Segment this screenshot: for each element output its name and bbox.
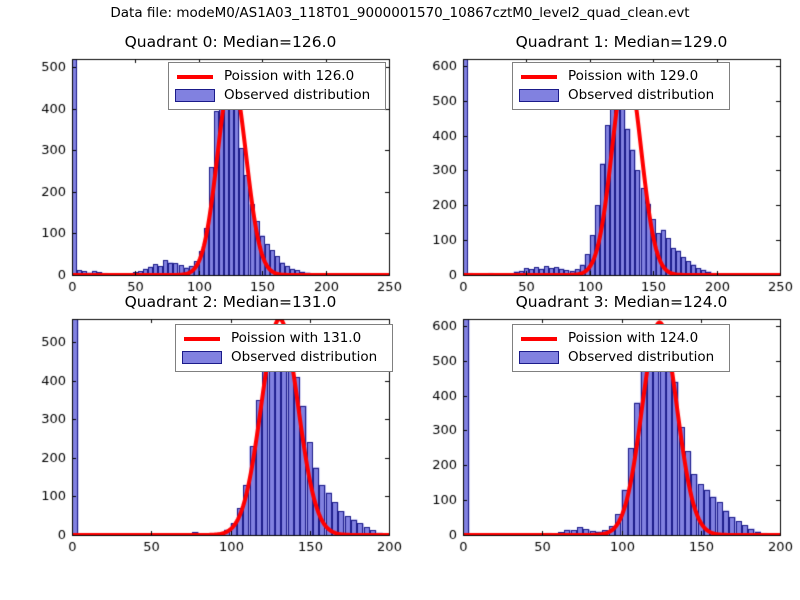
legend-label-poisson: Poission with 129.0 bbox=[568, 69, 698, 84]
legend-label-poisson: Poission with 131.0 bbox=[231, 331, 361, 346]
legend-quadrant-1: Poission with 129.0 Observed distributio… bbox=[512, 62, 730, 110]
figure-suptitle: Data file: modeM0/AS1A03_118T01_90000015… bbox=[0, 5, 800, 21]
legend-line-swatch-icon bbox=[175, 70, 215, 84]
legend-label-observed: Observed distribution bbox=[231, 350, 377, 365]
legend-patch-swatch-icon bbox=[519, 351, 559, 364]
legend-quadrant-3: Poission with 124.0 Observed distributio… bbox=[512, 324, 730, 372]
legend-line-swatch-icon bbox=[519, 332, 559, 346]
legend-row-poisson: Poission with 124.0 bbox=[519, 329, 723, 348]
legend-row-poisson: Poission with 129.0 bbox=[519, 67, 723, 86]
legend-label-poisson: Poission with 126.0 bbox=[224, 69, 354, 84]
legend-patch-swatch-icon bbox=[182, 351, 222, 364]
legend-label-observed: Observed distribution bbox=[568, 88, 714, 103]
legend-quadrant-0: Poission with 126.0 Observed distributio… bbox=[168, 62, 386, 110]
legend-line-swatch-icon bbox=[519, 70, 559, 84]
legend-row-poisson: Poission with 131.0 bbox=[182, 329, 386, 348]
legend-row-observed: Observed distribution bbox=[519, 348, 723, 367]
legend-row-observed: Observed distribution bbox=[182, 348, 386, 367]
subplot-title-quadrant-3: Quadrant 3: Median=124.0 bbox=[463, 293, 780, 311]
legend-patch-swatch-icon bbox=[519, 89, 559, 102]
legend-label-poisson: Poission with 124.0 bbox=[568, 331, 698, 346]
legend-quadrant-2: Poission with 131.0 Observed distributio… bbox=[175, 324, 393, 372]
subplot-title-quadrant-1: Quadrant 1: Median=129.0 bbox=[463, 33, 780, 51]
subplot-title-quadrant-2: Quadrant 2: Median=131.0 bbox=[72, 293, 389, 311]
legend-row-observed: Observed distribution bbox=[519, 86, 723, 105]
legend-patch-swatch-icon bbox=[175, 89, 215, 102]
legend-row-poisson: Poission with 126.0 bbox=[175, 67, 379, 86]
legend-line-swatch-icon bbox=[182, 332, 222, 346]
legend-label-observed: Observed distribution bbox=[224, 88, 370, 103]
legend-label-observed: Observed distribution bbox=[568, 350, 714, 365]
subplot-title-quadrant-0: Quadrant 0: Median=126.0 bbox=[72, 33, 389, 51]
matplotlib-figure: Data file: modeM0/AS1A03_118T01_90000015… bbox=[0, 0, 800, 600]
legend-row-observed: Observed distribution bbox=[175, 86, 379, 105]
